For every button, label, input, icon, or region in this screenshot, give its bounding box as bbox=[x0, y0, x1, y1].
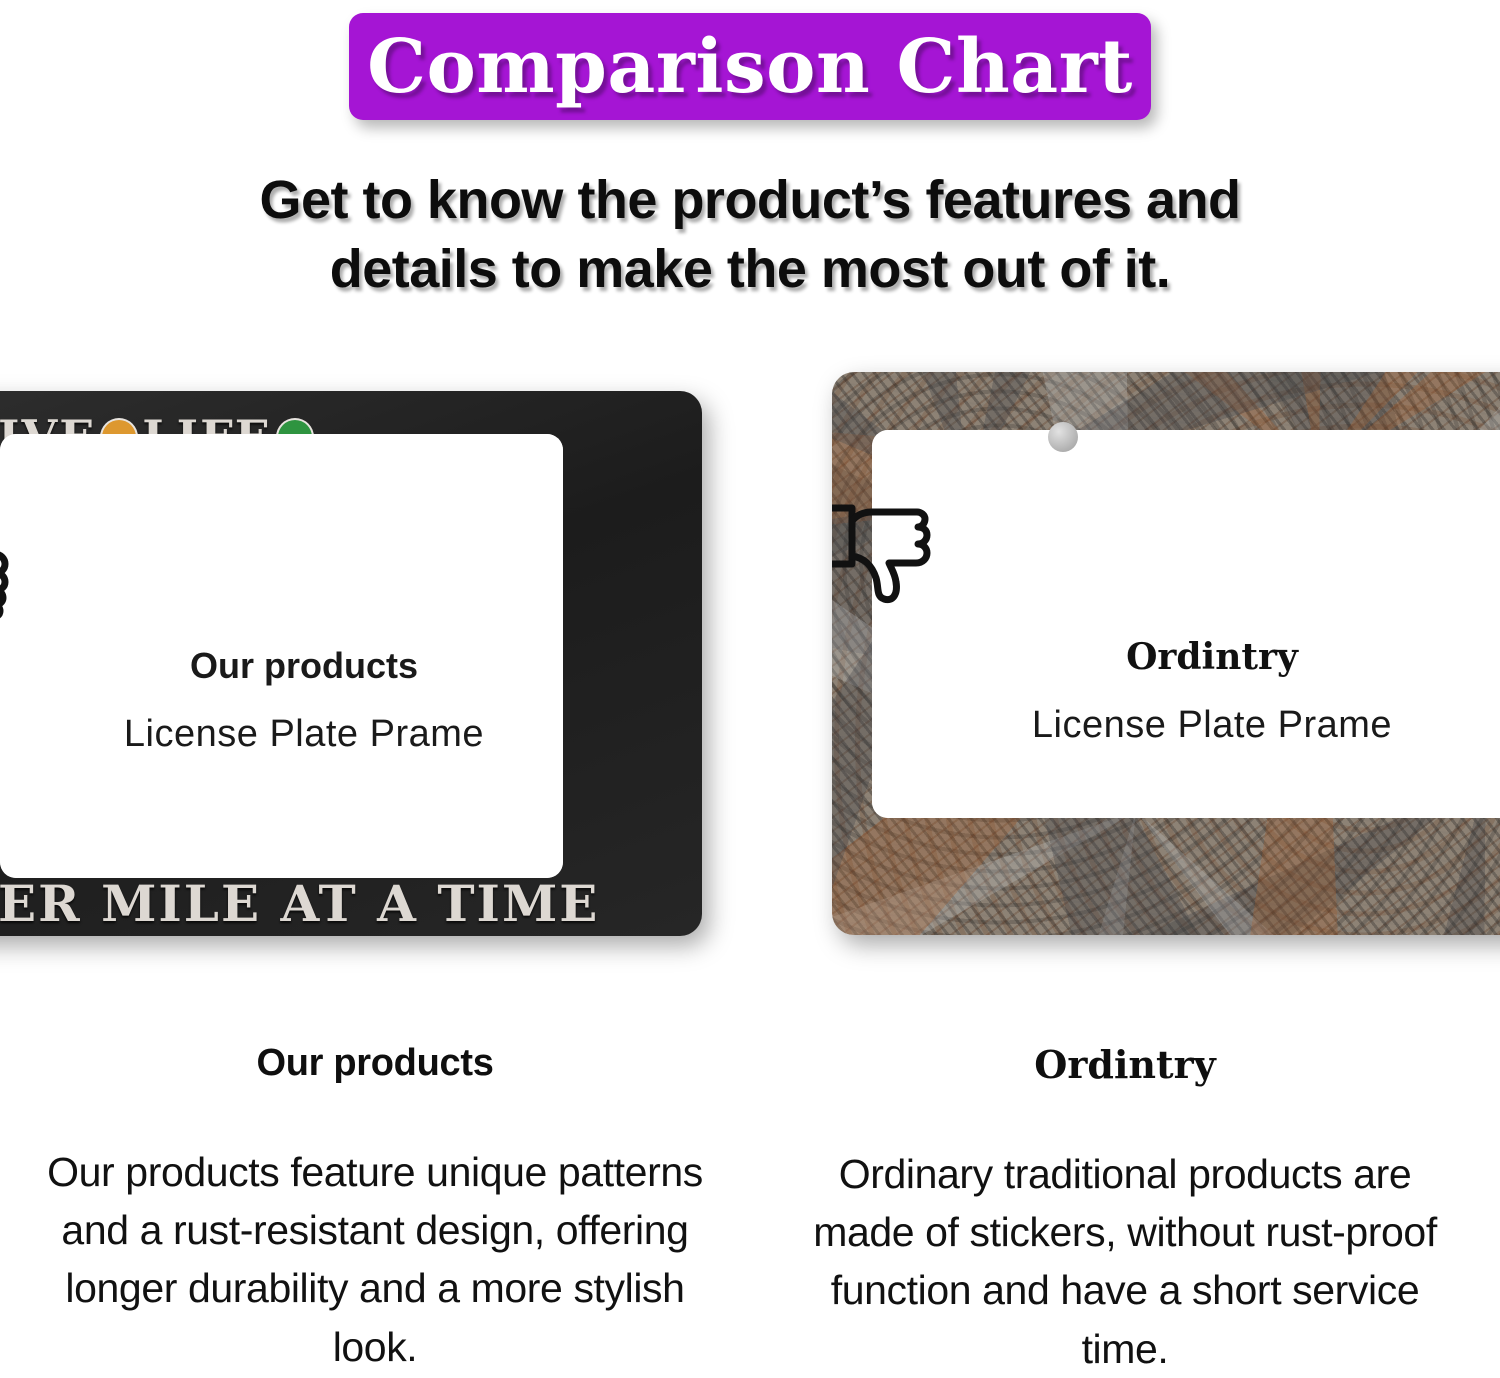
comparison-body-our-products: Our products feature unique patterns and… bbox=[40, 1143, 710, 1376]
product-comparison-images: IVELIFE Our products License Plate Prame… bbox=[0, 0, 1500, 1000]
comparison-heading-ordintry: Ordintry bbox=[790, 1042, 1460, 1087]
our-products-window-content: Our products License Plate Prame bbox=[0, 511, 702, 756]
screw-hole-top bbox=[1048, 422, 1078, 452]
ordintry-label: Ordintry bbox=[832, 636, 1500, 678]
comparison-text-columns: Our products Our products feature unique… bbox=[0, 1020, 1500, 1364]
comparison-heading-our-products: Our products bbox=[40, 1042, 710, 1085]
ordintry-plate-frame: Ordintry License Plate Prame bbox=[832, 372, 1500, 935]
our-products-label: Our products bbox=[0, 645, 702, 687]
comparison-column-our-products: Our products Our products feature unique… bbox=[0, 1020, 750, 1364]
comparison-body-ordintry: Ordinary traditional products are made o… bbox=[790, 1145, 1460, 1378]
ordintry-window-content: Ordintry License Plate Prame bbox=[832, 502, 1500, 747]
our-products-plate-frame: IVELIFE Our products License Plate Prame… bbox=[0, 391, 702, 936]
thumbs-up-icon bbox=[0, 511, 13, 621]
frame-engraved-bottom-text: ER MILE AT A TIME bbox=[0, 874, 599, 933]
comparison-column-ordintry: Ordintry Ordinary traditional products a… bbox=[750, 1020, 1500, 1364]
ordintry-sublabel: License Plate Prame bbox=[832, 704, 1500, 747]
our-products-sublabel: License Plate Prame bbox=[0, 713, 702, 756]
thumbs-down-icon bbox=[832, 502, 935, 612]
